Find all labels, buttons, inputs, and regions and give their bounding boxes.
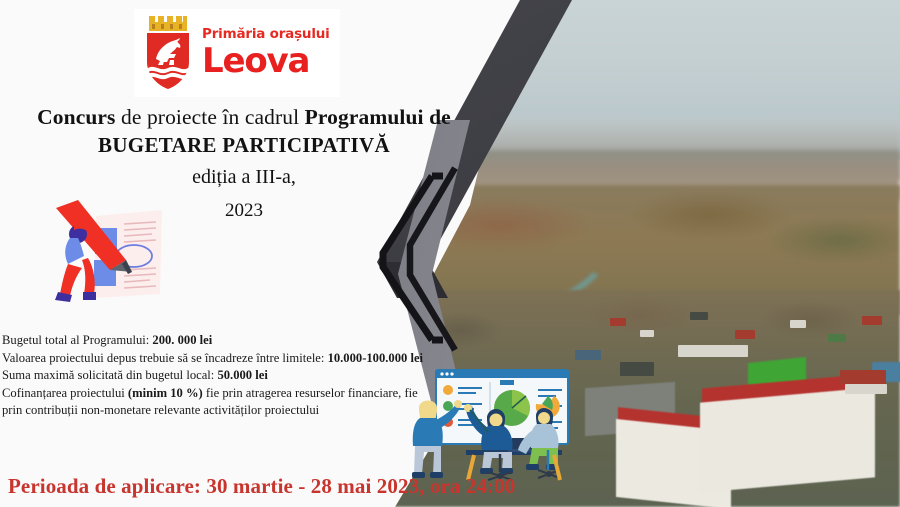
headline-line-1-plain: de proiecte în cadrul xyxy=(116,105,305,129)
logo-org-line2: Leova xyxy=(202,44,330,78)
photo-roof-fleck xyxy=(620,362,654,376)
detail-value-cofinancing: (minim 10 %) xyxy=(128,386,203,400)
photo-roof-fleck xyxy=(845,384,887,394)
detail-value-total-budget: 200. 000 lei xyxy=(152,333,212,347)
photo-roof-fleck xyxy=(735,330,755,339)
detail-line-max-local-budget: Suma maximă solicitată din bugetul local… xyxy=(2,367,430,385)
detail-label-total-budget: Bugetul total al Programului: xyxy=(2,333,152,347)
application-period-banner: Perioada de aplicare: 30 martie - 28 mai… xyxy=(8,474,515,499)
detail-label-cofinancing: Cofinanțarea proiectului xyxy=(2,386,128,400)
detail-line-project-limits: Valoarea proiectului depus trebuie să se… xyxy=(2,350,430,368)
photo-roof-fleck xyxy=(640,330,654,337)
detail-value-project-limits: 10.000-100.000 lei xyxy=(328,351,424,365)
headline-line-2: BUGETARE PARTICIPATIVĂ xyxy=(4,130,484,160)
headline-line-1-bold-b: Programului de xyxy=(305,105,451,129)
poster-canvas: Primăria orașului Leova Concurs de proie… xyxy=(0,0,900,507)
team-presentation-dashboard-illustration xyxy=(408,366,598,491)
headline-line-3: ediția a III-a, xyxy=(4,160,484,194)
photo-roof-fleck xyxy=(828,334,846,342)
coat-of-arms-crest-icon xyxy=(142,16,194,90)
detail-line-cofinancing: Cofinanțarea proiectului (minim 10 %) fi… xyxy=(2,385,430,420)
photo-roof-fleck xyxy=(610,318,626,326)
city-hall-logo: Primăria orașului Leova xyxy=(134,9,340,97)
photo-roof-fleck xyxy=(678,345,748,357)
headline-line-1: Concurs de proiecte în cadrul Programulu… xyxy=(4,104,484,130)
logo-org-line1: Primăria orașului xyxy=(202,28,330,42)
detail-label-max-local-budget: Suma maximă solicitată din bugetul local… xyxy=(2,368,217,382)
detail-line-total-budget: Bugetul total al Programului: 200. 000 l… xyxy=(2,332,430,350)
photo-roof-fleck xyxy=(690,312,708,320)
budget-details-block: Bugetul total al Programului: 200. 000 l… xyxy=(2,332,430,420)
photo-building-red-roof-1 xyxy=(700,387,875,492)
detail-value-max-local-budget: 50.000 lei xyxy=(217,368,267,382)
photo-roof-fleck xyxy=(840,370,886,384)
photo-roof-fleck xyxy=(790,320,806,328)
photo-roof-fleck xyxy=(862,316,882,325)
photo-roof-fleck xyxy=(575,350,601,360)
detail-label-project-limits: Valoarea proiectului depus trebuie să se… xyxy=(2,351,328,365)
person-marking-ballot-illustration xyxy=(38,198,166,316)
headline-line-1-bold-a: Concurs xyxy=(37,105,115,129)
